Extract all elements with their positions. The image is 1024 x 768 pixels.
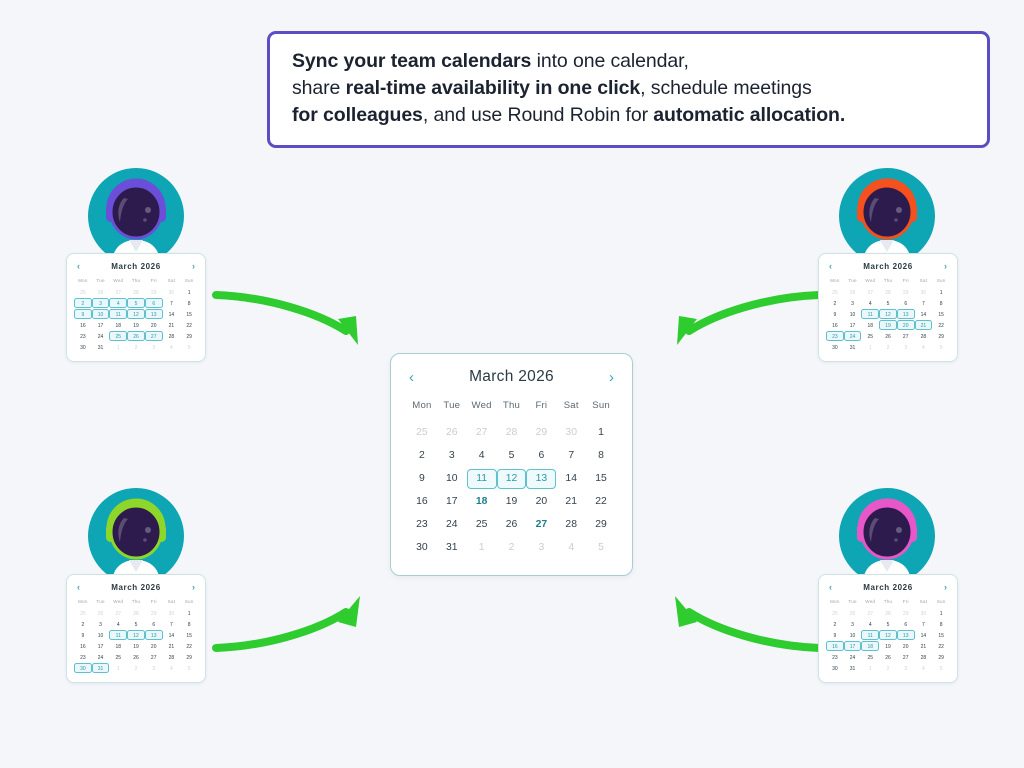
weekday-label-fri: Fri bbox=[145, 598, 163, 607]
headline-line-2: share real-time availability in one clic… bbox=[292, 75, 965, 102]
day-cell[interactable]: 27 bbox=[109, 287, 127, 297]
day-cell[interactable]: 17 bbox=[437, 492, 467, 512]
day-cell[interactable]: 8 bbox=[586, 446, 616, 466]
day-cell[interactable]: 3 bbox=[526, 538, 556, 558]
day-cell[interactable]: 31 bbox=[92, 663, 110, 673]
weekday-label-sat: Sat bbox=[915, 598, 933, 607]
day-cell[interactable]: 1 bbox=[109, 663, 127, 673]
day-cell[interactable]: 4 bbox=[163, 342, 181, 352]
day-cell[interactable]: 1 bbox=[932, 287, 950, 297]
day-cell[interactable]: 26 bbox=[844, 287, 862, 297]
day-cell[interactable]: 15 bbox=[180, 630, 198, 640]
day-cell[interactable]: 28 bbox=[879, 608, 897, 618]
day-cell[interactable]: 24 bbox=[844, 652, 862, 662]
day-cell[interactable]: 16 bbox=[826, 320, 844, 330]
day-cell[interactable]: 1 bbox=[861, 663, 879, 673]
day-cell[interactable]: 26 bbox=[437, 423, 467, 443]
day-cell[interactable]: 20 bbox=[897, 641, 915, 651]
day-cell[interactable]: 26 bbox=[879, 652, 897, 662]
day-cell[interactable]: 19 bbox=[127, 320, 145, 330]
day-cell[interactable]: 14 bbox=[915, 309, 933, 319]
weekday-label-tue: Tue bbox=[92, 277, 110, 286]
day-cell[interactable]: 29 bbox=[932, 331, 950, 341]
day-cell[interactable]: 7 bbox=[556, 446, 586, 466]
day-cell[interactable]: 27 bbox=[109, 608, 127, 618]
calendar-title: March 2026 bbox=[111, 262, 161, 271]
day-cell[interactable]: 26 bbox=[92, 608, 110, 618]
calendar-week-row: 16171819202122 bbox=[826, 319, 950, 330]
day-cell[interactable]: 13 bbox=[145, 309, 163, 319]
day-cell[interactable]: 16 bbox=[826, 641, 844, 651]
day-cell[interactable]: 28 bbox=[879, 287, 897, 297]
day-cell[interactable]: 15 bbox=[932, 630, 950, 640]
calendar-grid[interactable]: 2526272829301234567891011121314151617181… bbox=[74, 607, 198, 673]
day-cell[interactable]: 18 bbox=[109, 641, 127, 651]
day-cell[interactable]: 25 bbox=[74, 287, 92, 297]
day-cell[interactable]: 11 bbox=[861, 630, 879, 640]
day-cell[interactable]: 25 bbox=[407, 423, 437, 443]
calendar-week-row: 16171819202122 bbox=[826, 640, 950, 651]
day-cell[interactable]: 25 bbox=[74, 608, 92, 618]
day-cell[interactable]: 3 bbox=[92, 619, 110, 629]
day-cell[interactable]: 31 bbox=[437, 538, 467, 558]
weekday-label-fri: Fri bbox=[526, 400, 556, 421]
weekday-label-tue: Tue bbox=[437, 400, 467, 421]
day-cell[interactable]: 29 bbox=[932, 652, 950, 662]
day-cell[interactable]: 24 bbox=[92, 652, 110, 662]
day-cell[interactable]: 5 bbox=[932, 342, 950, 352]
calendar-week-row: 9101112131415 bbox=[74, 629, 198, 640]
main-calendar-title: March 2026 bbox=[469, 368, 554, 386]
day-cell[interactable]: 4 bbox=[467, 446, 497, 466]
calendar-week-row: 2345678 bbox=[826, 618, 950, 629]
day-cell[interactable]: 7 bbox=[163, 298, 181, 308]
day-cell[interactable]: 26 bbox=[92, 287, 110, 297]
calendar-week-row: 23242526272829 bbox=[74, 330, 198, 341]
weekday-label-thu: Thu bbox=[497, 400, 527, 421]
weekday-label-mon: Mon bbox=[74, 598, 92, 607]
day-cell[interactable]: 18 bbox=[109, 320, 127, 330]
calendar-week-row: 23242526272829 bbox=[826, 651, 950, 662]
day-cell[interactable]: 17 bbox=[92, 641, 110, 651]
day-cell[interactable]: 17 bbox=[844, 641, 862, 651]
day-cell[interactable]: 4 bbox=[109, 298, 127, 308]
day-cell[interactable]: 30 bbox=[163, 608, 181, 618]
headline-emphasis: automatic allocation. bbox=[653, 104, 845, 126]
calendar-week-row: 303112345 bbox=[74, 662, 198, 673]
day-cell[interactable]: 13 bbox=[526, 469, 556, 489]
day-cell[interactable]: 1 bbox=[467, 538, 497, 558]
day-cell[interactable]: 3 bbox=[897, 663, 915, 673]
day-cell[interactable]: 11 bbox=[109, 309, 127, 319]
day-cell[interactable]: 10 bbox=[844, 630, 862, 640]
day-cell[interactable]: 8 bbox=[180, 619, 198, 629]
day-cell[interactable]: 23 bbox=[74, 331, 92, 341]
day-cell[interactable]: 26 bbox=[844, 608, 862, 618]
day-cell[interactable]: 5 bbox=[879, 619, 897, 629]
day-cell[interactable]: 27 bbox=[861, 608, 879, 618]
day-cell[interactable]: 28 bbox=[497, 423, 527, 443]
calendar-week-row: 9101112131415 bbox=[826, 308, 950, 319]
day-cell[interactable]: 27 bbox=[526, 515, 556, 535]
calendar-week-row: 2345678 bbox=[407, 444, 616, 467]
headline-line-3: for colleagues, and use Round Robin for … bbox=[292, 102, 965, 129]
day-cell[interactable]: 30 bbox=[407, 538, 437, 558]
next-month-button[interactable]: › bbox=[609, 370, 614, 385]
day-cell[interactable]: 2 bbox=[127, 342, 145, 352]
day-cell[interactable]: 30 bbox=[915, 287, 933, 297]
day-cell[interactable]: 27 bbox=[145, 652, 163, 662]
calendar-grid[interactable]: 2526272829301234567891011121314151617181… bbox=[826, 286, 950, 352]
day-cell[interactable]: 31 bbox=[92, 342, 110, 352]
day-cell[interactable]: 20 bbox=[145, 641, 163, 651]
day-cell[interactable]: 5 bbox=[497, 446, 527, 466]
day-cell[interactable]: 28 bbox=[915, 331, 933, 341]
day-cell[interactable]: 19 bbox=[879, 320, 897, 330]
calendar-week-row: 2345678 bbox=[74, 618, 198, 629]
day-cell[interactable]: 29 bbox=[526, 423, 556, 443]
day-cell[interactable]: 10 bbox=[437, 469, 467, 489]
calendar-grid[interactable]: 2526272829301234567891011121314151617181… bbox=[74, 286, 198, 352]
calendar-week-row: 16171819202122 bbox=[74, 640, 198, 651]
day-cell[interactable]: 10 bbox=[844, 309, 862, 319]
day-cell[interactable]: 2 bbox=[879, 342, 897, 352]
day-cell[interactable]: 6 bbox=[897, 298, 915, 308]
day-cell[interactable]: 22 bbox=[586, 492, 616, 512]
day-cell[interactable]: 10 bbox=[92, 630, 110, 640]
day-cell[interactable]: 30 bbox=[556, 423, 586, 443]
day-cell[interactable]: 9 bbox=[826, 630, 844, 640]
day-cell[interactable]: 22 bbox=[932, 320, 950, 330]
day-cell[interactable]: 5 bbox=[127, 619, 145, 629]
day-cell[interactable]: 2 bbox=[826, 619, 844, 629]
day-cell[interactable]: 4 bbox=[915, 663, 933, 673]
next-month-button[interactable]: › bbox=[944, 262, 947, 271]
calendar-week-row: 23242526272829 bbox=[74, 651, 198, 662]
day-cell[interactable]: 12 bbox=[879, 630, 897, 640]
day-cell[interactable]: 11 bbox=[861, 309, 879, 319]
day-cell[interactable]: 21 bbox=[163, 641, 181, 651]
day-cell[interactable]: 22 bbox=[932, 641, 950, 651]
day-cell[interactable]: 4 bbox=[861, 298, 879, 308]
day-cell[interactable]: 28 bbox=[915, 652, 933, 662]
headline-emphasis: Sync your team calendars bbox=[292, 50, 531, 72]
day-cell[interactable]: 18 bbox=[861, 320, 879, 330]
day-cell[interactable]: 2 bbox=[497, 538, 527, 558]
calendar-week-row: 2526272829301 bbox=[826, 286, 950, 297]
day-cell[interactable]: 31 bbox=[844, 663, 862, 673]
calendar-header: ‹ March 2026 › bbox=[826, 262, 950, 277]
day-cell[interactable]: 4 bbox=[109, 619, 127, 629]
day-cell[interactable]: 19 bbox=[497, 492, 527, 512]
headline-emphasis: for colleagues bbox=[292, 104, 423, 126]
day-cell[interactable]: 29 bbox=[586, 515, 616, 535]
weekday-label-sat: Sat bbox=[556, 400, 586, 421]
day-cell[interactable]: 1 bbox=[180, 608, 198, 618]
weekday-header-row: MonTueWedThuFriSatSun bbox=[826, 598, 950, 607]
next-month-button[interactable]: › bbox=[944, 583, 947, 592]
calendar-top-right[interactable]: ‹ March 2026 › MonTueWedThuFriSatSun 252… bbox=[818, 253, 958, 362]
day-cell[interactable]: 13 bbox=[897, 630, 915, 640]
day-cell[interactable]: 27 bbox=[467, 423, 497, 443]
day-cell[interactable]: 2 bbox=[879, 663, 897, 673]
day-cell[interactable]: 12 bbox=[497, 469, 527, 489]
day-cell[interactable]: 28 bbox=[163, 331, 181, 341]
day-cell[interactable]: 25 bbox=[109, 331, 127, 341]
day-cell[interactable]: 10 bbox=[92, 309, 110, 319]
calendar-grid[interactable]: 2526272829301234567891011121314151617181… bbox=[826, 607, 950, 673]
day-cell[interactable]: 13 bbox=[897, 309, 915, 319]
day-cell[interactable]: 27 bbox=[897, 331, 915, 341]
day-cell[interactable]: 28 bbox=[163, 652, 181, 662]
day-cell[interactable]: 13 bbox=[145, 630, 163, 640]
day-cell[interactable]: 15 bbox=[180, 309, 198, 319]
day-cell[interactable]: 20 bbox=[526, 492, 556, 512]
day-cell[interactable]: 1 bbox=[932, 608, 950, 618]
day-cell[interactable]: 26 bbox=[497, 515, 527, 535]
day-cell[interactable]: 16 bbox=[74, 641, 92, 651]
astronaut-top-left bbox=[88, 168, 184, 264]
day-cell[interactable]: 3 bbox=[145, 342, 163, 352]
day-cell[interactable]: 30 bbox=[915, 608, 933, 618]
calendar-title: March 2026 bbox=[863, 583, 913, 592]
day-cell[interactable]: 30 bbox=[826, 663, 844, 673]
day-cell[interactable]: 24 bbox=[437, 515, 467, 535]
prev-month-button[interactable]: ‹ bbox=[77, 262, 80, 271]
day-cell[interactable]: 29 bbox=[145, 608, 163, 618]
day-cell[interactable]: 8 bbox=[932, 619, 950, 629]
day-cell[interactable]: 5 bbox=[586, 538, 616, 558]
day-cell[interactable]: 14 bbox=[915, 630, 933, 640]
day-cell[interactable]: 14 bbox=[556, 469, 586, 489]
weekday-label-tue: Tue bbox=[92, 598, 110, 607]
day-cell[interactable]: 21 bbox=[163, 320, 181, 330]
day-cell[interactable]: 9 bbox=[826, 309, 844, 319]
day-cell[interactable]: 25 bbox=[826, 608, 844, 618]
main-calendar-grid[interactable]: 2526272829301234567891011121314151617181… bbox=[407, 421, 616, 559]
day-cell[interactable]: 26 bbox=[879, 331, 897, 341]
astronaut-figure bbox=[839, 488, 935, 584]
weekday-label-mon: Mon bbox=[407, 400, 437, 421]
day-cell[interactable]: 23 bbox=[407, 515, 437, 535]
day-cell[interactable]: 7 bbox=[915, 619, 933, 629]
day-cell[interactable]: 11 bbox=[467, 469, 497, 489]
calendar-week-row: 303112345 bbox=[826, 341, 950, 352]
calendar-week-row: 2345678 bbox=[826, 297, 950, 308]
astronaut-figure bbox=[88, 168, 184, 264]
weekday-header-row: MonTueWedThuFriSatSun bbox=[74, 277, 198, 286]
calendar-top-left[interactable]: ‹ March 2026 › MonTueWedThuFriSatSun 252… bbox=[66, 253, 206, 362]
day-cell[interactable]: 2 bbox=[74, 619, 92, 629]
day-cell[interactable]: 6 bbox=[897, 619, 915, 629]
day-cell[interactable]: 4 bbox=[861, 619, 879, 629]
day-cell[interactable]: 25 bbox=[861, 652, 879, 662]
next-month-button[interactable]: › bbox=[192, 583, 195, 592]
weekday-label-fri: Fri bbox=[897, 598, 915, 607]
weekday-label-wed: Wed bbox=[861, 598, 879, 607]
day-cell[interactable]: 15 bbox=[932, 309, 950, 319]
headline-emphasis: real-time availability in one click bbox=[346, 77, 641, 99]
calendar-week-row: 2526272829301 bbox=[407, 421, 616, 444]
weekday-label-mon: Mon bbox=[826, 598, 844, 607]
day-cell[interactable]: 28 bbox=[127, 287, 145, 297]
day-cell[interactable]: 6 bbox=[526, 446, 556, 466]
day-cell[interactable]: 4 bbox=[915, 342, 933, 352]
arrow-top-right-to-center bbox=[650, 283, 825, 355]
day-cell[interactable]: 14 bbox=[163, 309, 181, 319]
day-cell[interactable]: 22 bbox=[180, 641, 198, 651]
main-calendar[interactable]: ‹ March 2026 › MonTueWedThuFriSatSun 252… bbox=[390, 353, 633, 576]
weekday-label-thu: Thu bbox=[879, 598, 897, 607]
day-cell[interactable]: 16 bbox=[407, 492, 437, 512]
day-cell[interactable]: 25 bbox=[467, 515, 497, 535]
weekday-label-wed: Wed bbox=[109, 598, 127, 607]
day-cell[interactable]: 21 bbox=[556, 492, 586, 512]
day-cell[interactable]: 20 bbox=[897, 320, 915, 330]
day-cell[interactable]: 29 bbox=[897, 287, 915, 297]
day-cell[interactable]: 21 bbox=[915, 641, 933, 651]
day-cell[interactable]: 23 bbox=[826, 331, 844, 341]
day-cell[interactable]: 5 bbox=[180, 342, 198, 352]
day-cell[interactable]: 3 bbox=[844, 298, 862, 308]
day-cell[interactable]: 17 bbox=[92, 320, 110, 330]
day-cell[interactable]: 5 bbox=[127, 298, 145, 308]
day-cell[interactable]: 27 bbox=[145, 331, 163, 341]
day-cell[interactable]: 21 bbox=[915, 320, 933, 330]
day-cell[interactable]: 11 bbox=[109, 630, 127, 640]
day-cell[interactable]: 18 bbox=[861, 641, 879, 651]
day-cell[interactable]: 26 bbox=[127, 331, 145, 341]
weekday-label-sun: Sun bbox=[586, 400, 616, 421]
day-cell[interactable]: 3 bbox=[437, 446, 467, 466]
day-cell[interactable]: 12 bbox=[127, 630, 145, 640]
prev-month-button[interactable]: ‹ bbox=[829, 583, 832, 592]
day-cell[interactable]: 30 bbox=[74, 663, 92, 673]
day-cell[interactable]: 25 bbox=[826, 287, 844, 297]
day-cell[interactable]: 28 bbox=[556, 515, 586, 535]
astronaut-figure bbox=[839, 168, 935, 264]
day-cell[interactable]: 31 bbox=[844, 342, 862, 352]
day-cell[interactable]: 29 bbox=[145, 287, 163, 297]
day-cell[interactable]: 23 bbox=[74, 652, 92, 662]
day-cell[interactable]: 4 bbox=[163, 663, 181, 673]
weekday-label-sat: Sat bbox=[163, 598, 181, 607]
day-cell[interactable]: 19 bbox=[879, 641, 897, 651]
day-cell[interactable]: 18 bbox=[467, 492, 497, 512]
day-cell[interactable]: 30 bbox=[74, 342, 92, 352]
day-cell[interactable]: 8 bbox=[180, 298, 198, 308]
weekday-header-row: MonTueWedThuFriSatSun bbox=[826, 277, 950, 286]
day-cell[interactable]: 6 bbox=[145, 619, 163, 629]
calendar-header: ‹ March 2026 › bbox=[826, 583, 950, 598]
weekday-header-row: MonTueWedThuFriSatSun bbox=[74, 598, 198, 607]
day-cell[interactable]: 3 bbox=[844, 619, 862, 629]
day-cell[interactable]: 29 bbox=[180, 331, 198, 341]
day-cell[interactable]: 3 bbox=[92, 298, 110, 308]
day-cell[interactable]: 24 bbox=[844, 331, 862, 341]
calendar-week-row: 16171819202122 bbox=[74, 319, 198, 330]
day-cell[interactable]: 2 bbox=[826, 298, 844, 308]
calendar-week-row: 303112345 bbox=[74, 341, 198, 352]
day-cell[interactable]: 8 bbox=[932, 298, 950, 308]
day-cell[interactable]: 9 bbox=[74, 630, 92, 640]
day-cell[interactable]: 1 bbox=[180, 287, 198, 297]
day-cell[interactable]: 20 bbox=[145, 320, 163, 330]
calendar-bottom-right[interactable]: ‹ March 2026 › MonTueWedThuFriSatSun 252… bbox=[818, 574, 958, 683]
day-cell[interactable]: 30 bbox=[826, 342, 844, 352]
day-cell[interactable]: 12 bbox=[879, 309, 897, 319]
headline-text: , schedule meetings bbox=[640, 77, 812, 99]
next-month-button[interactable]: › bbox=[192, 262, 195, 271]
day-cell[interactable]: 5 bbox=[879, 298, 897, 308]
day-cell[interactable]: 1 bbox=[586, 423, 616, 443]
day-cell[interactable]: 9 bbox=[74, 309, 92, 319]
calendar-week-row: 16171819202122 bbox=[407, 490, 616, 513]
calendar-bottom-left[interactable]: ‹ March 2026 › MonTueWedThuFriSatSun 252… bbox=[66, 574, 206, 683]
calendar-week-row: 2526272829301 bbox=[74, 286, 198, 297]
day-cell[interactable]: 30 bbox=[163, 287, 181, 297]
weekday-label-sat: Sat bbox=[915, 277, 933, 286]
astronaut-bottom-left bbox=[88, 488, 184, 584]
day-cell[interactable]: 25 bbox=[109, 652, 127, 662]
day-cell[interactable]: 1 bbox=[109, 342, 127, 352]
day-cell[interactable]: 23 bbox=[826, 652, 844, 662]
day-cell[interactable]: 9 bbox=[407, 469, 437, 489]
weekday-label-sun: Sun bbox=[180, 598, 198, 607]
day-cell[interactable]: 16 bbox=[74, 320, 92, 330]
day-cell[interactable]: 29 bbox=[897, 608, 915, 618]
arrow-top-left-to-center bbox=[210, 283, 385, 355]
day-cell[interactable]: 2 bbox=[127, 663, 145, 673]
day-cell[interactable]: 5 bbox=[932, 663, 950, 673]
day-cell[interactable]: 15 bbox=[586, 469, 616, 489]
day-cell[interactable]: 3 bbox=[145, 663, 163, 673]
day-cell[interactable]: 24 bbox=[92, 331, 110, 341]
day-cell[interactable]: 6 bbox=[145, 298, 163, 308]
day-cell[interactable]: 19 bbox=[127, 641, 145, 651]
arrow-bottom-right-to-center bbox=[650, 588, 825, 660]
day-cell[interactable]: 5 bbox=[180, 663, 198, 673]
weekday-label-tue: Tue bbox=[844, 598, 862, 607]
day-cell[interactable]: 2 bbox=[74, 298, 92, 308]
day-cell[interactable]: 27 bbox=[861, 287, 879, 297]
prev-month-button[interactable]: ‹ bbox=[829, 262, 832, 271]
day-cell[interactable]: 28 bbox=[127, 608, 145, 618]
weekday-label-sun: Sun bbox=[932, 598, 950, 607]
day-cell[interactable]: 14 bbox=[163, 630, 181, 640]
day-cell[interactable]: 29 bbox=[180, 652, 198, 662]
day-cell[interactable]: 7 bbox=[915, 298, 933, 308]
astronaut-top-right bbox=[839, 168, 935, 264]
day-cell[interactable]: 22 bbox=[180, 320, 198, 330]
weekday-label-sat: Sat bbox=[163, 277, 181, 286]
day-cell[interactable]: 26 bbox=[127, 652, 145, 662]
day-cell[interactable]: 27 bbox=[897, 652, 915, 662]
day-cell[interactable]: 12 bbox=[127, 309, 145, 319]
day-cell[interactable]: 2 bbox=[407, 446, 437, 466]
day-cell[interactable]: 25 bbox=[861, 331, 879, 341]
day-cell[interactable]: 7 bbox=[163, 619, 181, 629]
prev-month-button[interactable]: ‹ bbox=[77, 583, 80, 592]
weekday-label-sun: Sun bbox=[180, 277, 198, 286]
day-cell[interactable]: 4 bbox=[556, 538, 586, 558]
day-cell[interactable]: 3 bbox=[897, 342, 915, 352]
prev-month-button[interactable]: ‹ bbox=[409, 370, 414, 385]
day-cell[interactable]: 17 bbox=[844, 320, 862, 330]
calendar-week-row: 2345678 bbox=[74, 297, 198, 308]
day-cell[interactable]: 1 bbox=[861, 342, 879, 352]
calendar-week-row: 2526272829301 bbox=[74, 607, 198, 618]
